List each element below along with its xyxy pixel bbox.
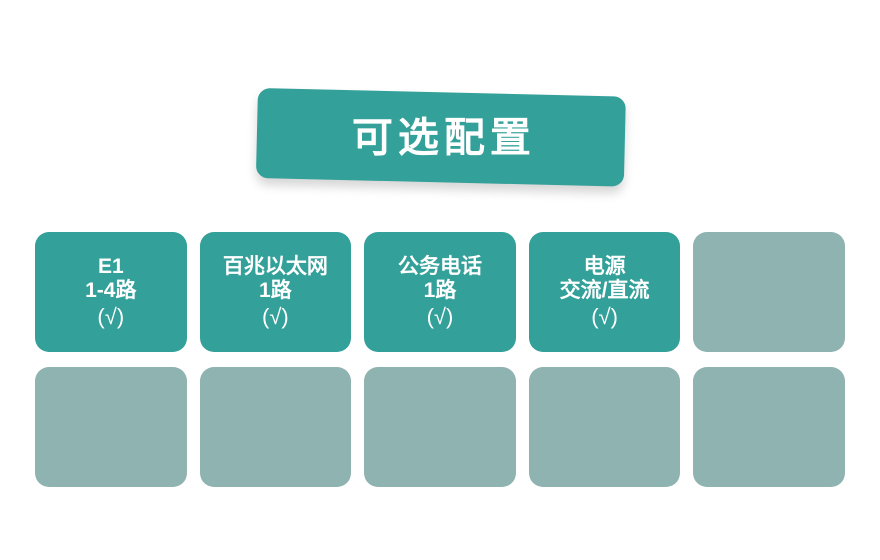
- tile-fast-ethernet[interactable]: 百兆以太网 1路 (√): [200, 232, 352, 352]
- tile-power[interactable]: 电源 交流/直流 (√): [529, 232, 681, 352]
- slide-canvas: 可选配置 E1 1-4路 (√) 百兆以太网 1路 (√) 公务电话 1路 (√…: [0, 0, 880, 560]
- tile-placeholder-2-4[interactable]: [529, 367, 681, 487]
- banner-title: 可选配置: [346, 117, 535, 158]
- optional-config-banner: 可选配置: [256, 88, 626, 187]
- tile-line-2: 1-4路: [85, 279, 136, 303]
- tile-line-2: 1路: [424, 279, 457, 303]
- feature-tile-grid: E1 1-4路 (√) 百兆以太网 1路 (√) 公务电话 1路 (√) 电源 …: [35, 232, 845, 487]
- tile-line-2: 交流/直流: [560, 279, 650, 303]
- tile-row-1: E1 1-4路 (√) 百兆以太网 1路 (√) 公务电话 1路 (√) 电源 …: [35, 232, 845, 352]
- tile-placeholder-2-1[interactable]: [35, 367, 187, 487]
- tile-line-1: 公务电话: [398, 255, 482, 279]
- banner-shape: 可选配置: [256, 88, 626, 187]
- tile-line-1: 电源: [584, 255, 626, 279]
- tile-placeholder-1-5[interactable]: [693, 232, 845, 352]
- tile-check-mark: (√): [97, 304, 124, 330]
- tile-check-mark: (√): [427, 304, 454, 330]
- tile-line-2: 1路: [259, 279, 292, 303]
- tile-line-1: E1: [98, 255, 124, 279]
- tile-placeholder-2-2[interactable]: [200, 367, 352, 487]
- tile-service-phone[interactable]: 公务电话 1路 (√): [364, 232, 516, 352]
- tile-e1[interactable]: E1 1-4路 (√): [35, 232, 187, 352]
- tile-row-2: [35, 367, 845, 487]
- tile-check-mark: (√): [591, 304, 618, 330]
- tile-placeholder-2-3[interactable]: [364, 367, 516, 487]
- tile-check-mark: (√): [262, 304, 289, 330]
- tile-line-1: 百兆以太网: [223, 255, 328, 279]
- tile-placeholder-2-5[interactable]: [693, 367, 845, 487]
